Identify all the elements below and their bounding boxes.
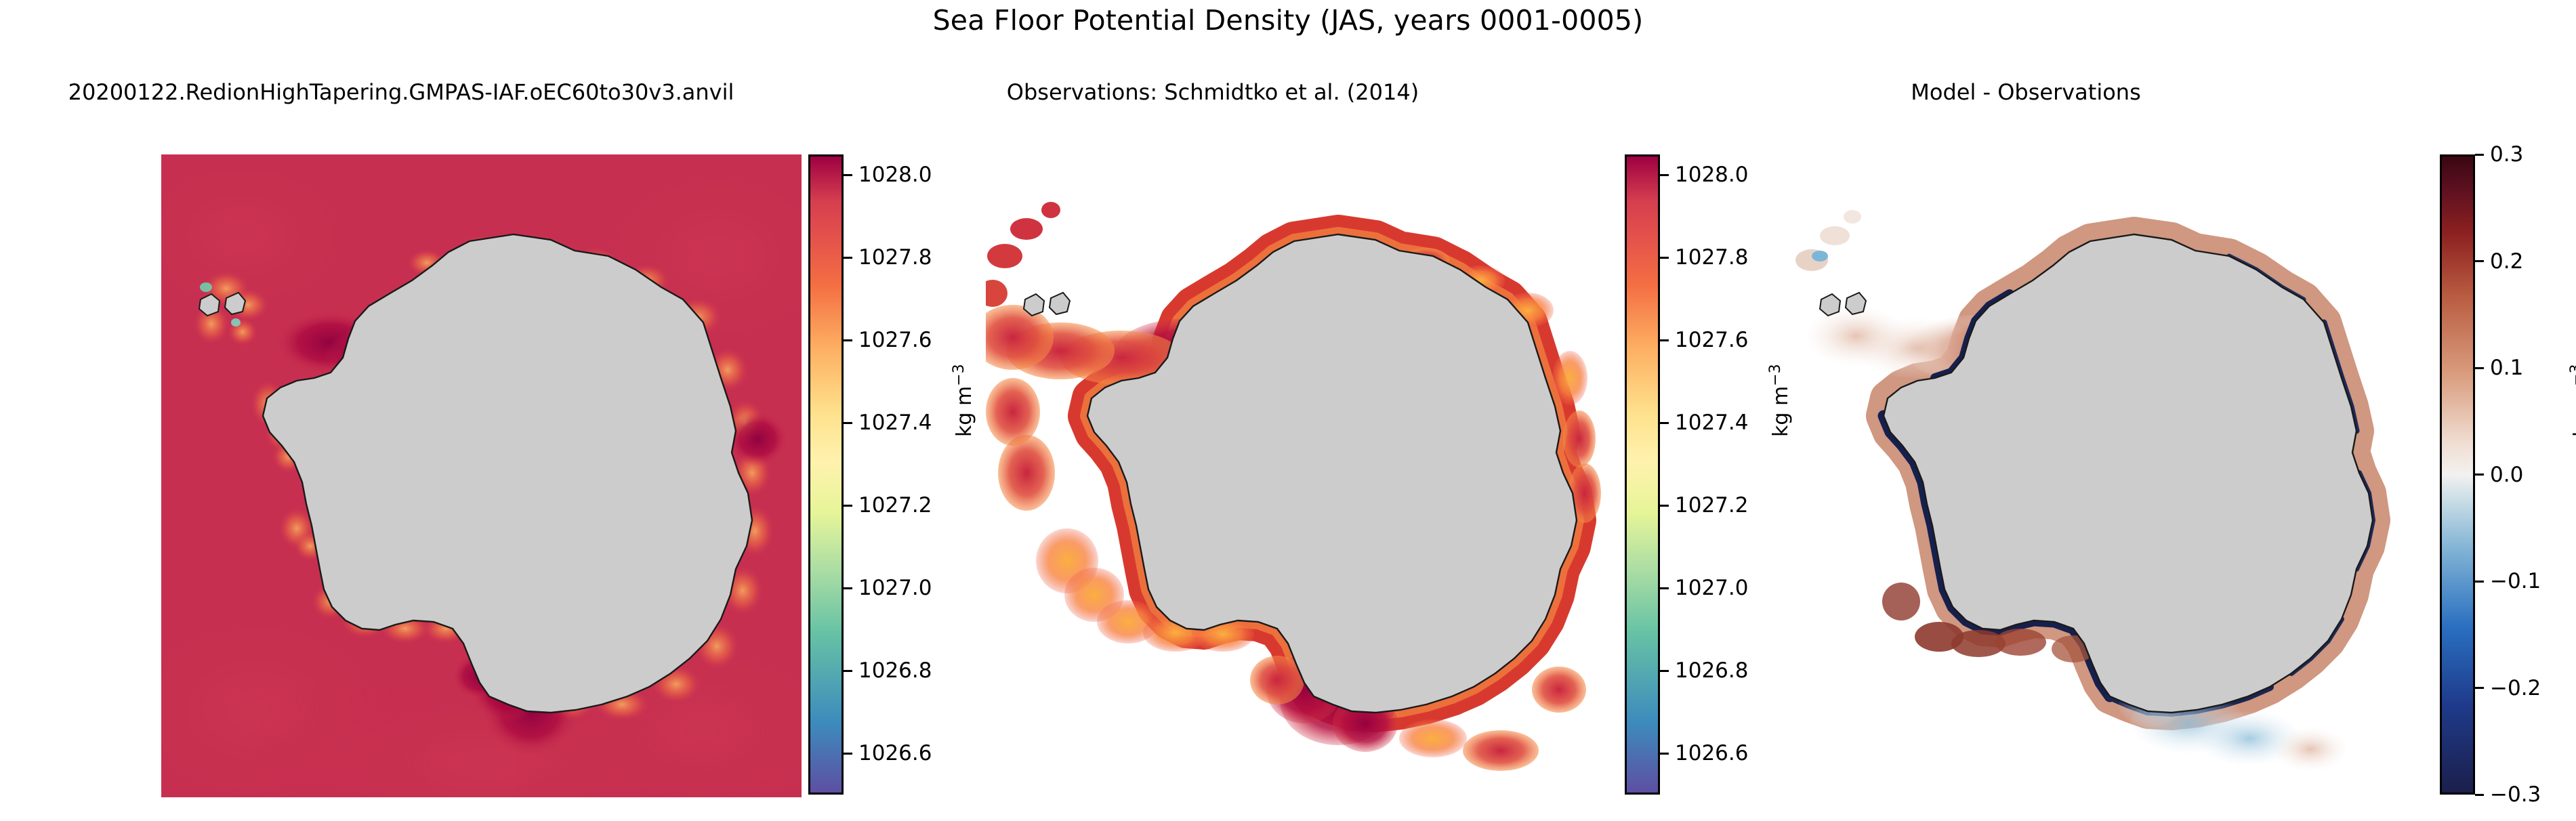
tick-mark [2475, 687, 2484, 689]
tick-label: 1027.0 [858, 576, 932, 600]
tick-mark [844, 670, 852, 672]
colorbar-tick: 1027.6 [1660, 328, 1748, 352]
tick-mark [1660, 670, 1669, 672]
colorbar-tick: −0.2 [2475, 676, 2541, 700]
colorbar-tick: 1027.2 [844, 493, 932, 518]
panel-title-difference: Model - Observations [1626, 79, 2426, 105]
tick-label: 1027.6 [858, 328, 932, 352]
tick-mark [1660, 339, 1669, 341]
tick-label: 1027.4 [1675, 410, 1748, 435]
colorbar-tick: 0.3 [2475, 142, 2523, 167]
colorbar-tick: −0.3 [2475, 782, 2541, 807]
tick-mark [2475, 154, 2484, 156]
colorbar-tick: 1026.6 [844, 741, 932, 765]
colorbar-model[interactable] [808, 154, 844, 795]
colorbar-unit-model: kg m−3 [951, 364, 976, 437]
tick-label: 1026.6 [858, 741, 932, 765]
difference-field-svg [1782, 154, 2422, 797]
tick-mark [844, 422, 852, 424]
tick-label: 0.3 [2490, 142, 2523, 167]
colorbar-unit-observations: kg m−3 [1767, 364, 1793, 437]
tick-mark [1660, 505, 1669, 507]
tick-label: −0.1 [2490, 569, 2541, 593]
colorbar-tick: 1028.0 [1660, 163, 1748, 187]
colorbar-tick: 1026.6 [1660, 741, 1748, 765]
tick-mark [1660, 422, 1669, 424]
colorbar-tick: 0.2 [2475, 249, 2523, 274]
colorbar-tick: −0.1 [2475, 569, 2541, 593]
tick-label: 0.0 [2490, 463, 2523, 487]
colorbar-tick: 1027.8 [844, 245, 932, 270]
tick-label: 1027.8 [858, 245, 932, 270]
tick-mark [844, 257, 852, 259]
tick-label: 1026.8 [858, 658, 932, 683]
tick-mark [844, 753, 852, 755]
colorbar-tick: 1028.0 [844, 163, 932, 187]
tick-mark [2475, 581, 2484, 583]
tick-label: 1026.8 [1675, 658, 1748, 683]
colorbar-ticks-observations: 1028.01027.81027.61027.41027.21027.01026… [1660, 154, 1816, 795]
map-panel-model[interactable] [161, 154, 802, 797]
tick-label: 1027.0 [1675, 576, 1748, 600]
tick-label: 1027.2 [858, 493, 932, 518]
tick-label: 1028.0 [1675, 163, 1748, 187]
tick-mark [844, 339, 852, 341]
tick-mark [1660, 257, 1669, 259]
figure-canvas: Sea Floor Potential Density (JAS, years … [0, 0, 2576, 821]
colorbar-ticks-model: 1028.01027.81027.61027.41027.21027.01026… [844, 154, 999, 795]
panel-title-model: 20200122.RedionHighTapering.GMPAS-IAF.oE… [0, 79, 802, 105]
colorbar-tick: 0.0 [2475, 463, 2523, 487]
colorbar-tick: 1026.8 [1660, 658, 1748, 683]
tick-label: 1027.8 [1675, 245, 1748, 270]
tick-label: −0.3 [2490, 782, 2541, 807]
colorbar-ticks-difference: 0.30.20.10.0−0.1−0.2−0.3 [2475, 154, 2576, 795]
tick-mark [1660, 587, 1669, 589]
figure-title: Sea Floor Potential Density (JAS, years … [0, 4, 2576, 37]
tick-label: −0.2 [2490, 676, 2541, 700]
map-panel-observations[interactable] [986, 154, 1626, 797]
tick-label: 1027.6 [1675, 328, 1748, 352]
panel-title-observations: Observations: Schmidtko et al. (2014) [806, 79, 1619, 105]
tick-mark [2475, 794, 2484, 796]
colorbar-difference[interactable] [2440, 154, 2475, 795]
colorbar-unit-difference: kg m−3 [2568, 364, 2576, 437]
tick-mark [844, 505, 852, 507]
colorbar-tick: 1027.8 [1660, 245, 1748, 270]
tick-label: 0.2 [2490, 249, 2523, 274]
colorbar-tick: 1027.6 [844, 328, 932, 352]
colorbar-tick: 1027.4 [844, 410, 932, 435]
model-field-svg [161, 154, 802, 797]
colorbar-tick: 1027.2 [1660, 493, 1748, 518]
tick-mark [2475, 473, 2484, 476]
colorbar-observations[interactable] [1625, 154, 1660, 795]
tick-label: 1027.4 [858, 410, 932, 435]
colorbar-tick: 0.1 [2475, 356, 2523, 380]
tick-label: 1026.6 [1675, 741, 1748, 765]
colorbar-tick: 1027.4 [1660, 410, 1748, 435]
tick-mark [844, 174, 852, 176]
colorbar-tick: 1026.8 [844, 658, 932, 683]
tick-mark [1660, 753, 1669, 755]
colorbar-tick: 1027.0 [1660, 576, 1748, 600]
tick-mark [2475, 367, 2484, 369]
tick-mark [844, 587, 852, 589]
tick-label: 1028.0 [858, 163, 932, 187]
map-panel-difference[interactable] [1782, 154, 2422, 797]
tick-label: 0.1 [2490, 356, 2523, 380]
colorbar-tick: 1027.0 [844, 576, 932, 600]
tick-mark [1660, 174, 1669, 176]
tick-mark [2475, 260, 2484, 262]
tick-label: 1027.2 [1675, 493, 1748, 518]
observations-field-svg [986, 154, 1626, 797]
